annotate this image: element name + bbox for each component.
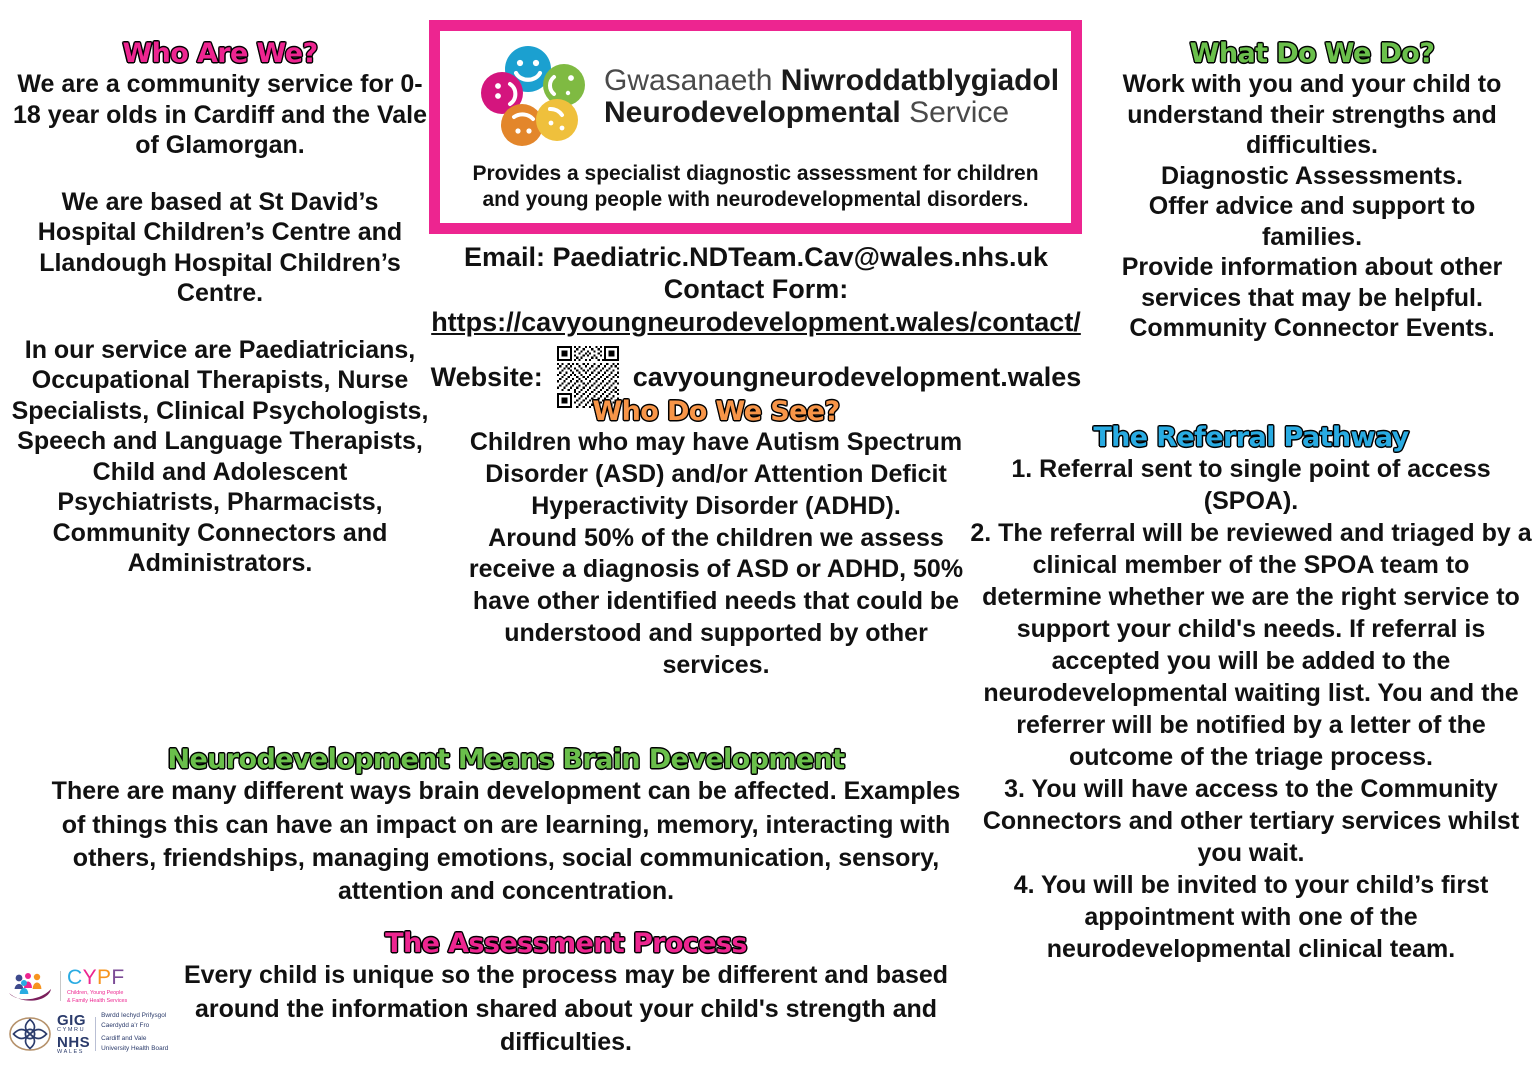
five-smiley-faces-logo-icon	[478, 43, 590, 151]
cypf-subtitle: Children, Young People & Family Health S…	[67, 990, 127, 1004]
referral-pathway-body: 1. Referral sent to single point of acce…	[970, 453, 1532, 965]
what-do-we-do-heading: What Do We Do?	[1096, 40, 1528, 68]
what-do-we-do-item-2: Diagnostic Assessments.	[1096, 161, 1528, 192]
cypf-divider	[60, 971, 61, 1001]
what-do-we-do-body: Work with you and your child to understa…	[1096, 69, 1528, 344]
logo-row: Gwasanaeth Niwroddatblygiadol Neurodevel…	[440, 31, 1071, 151]
website-url[interactable]: cavyoungneurodevelopment.wales	[633, 362, 1082, 393]
logo-neurodevelopmental: Neurodevelopmental	[604, 96, 901, 129]
who-are-we-heading: Who Are We?	[10, 40, 430, 68]
nhs-wales-celtic-knot-logo-icon	[8, 1015, 52, 1053]
referral-step-2: 2. The referral will be reviewed and tri…	[970, 517, 1532, 773]
who-do-we-see-paragraph-1: Children who may have Autism Spectrum Di…	[452, 427, 980, 522]
website-label: Website:	[431, 362, 543, 393]
logo-service: Service	[909, 96, 1009, 129]
logo-line-english: Neurodevelopmental Service	[604, 97, 1059, 129]
neurodevelopment-section: Neurodevelopment Means Brain Development…	[46, 746, 966, 908]
cypf-subtitle-line-1: Children, Young People	[67, 990, 127, 997]
referral-step-3: 3. You will have access to the Community…	[970, 773, 1532, 869]
who-are-we-paragraph-2: We are based at St David’s Hospital Chil…	[10, 187, 430, 309]
contact-block: Email: Paediatric.NDTeam.Cav@wales.nhs.u…	[420, 242, 1092, 408]
cypf-family-hand-logo-icon	[8, 969, 54, 1003]
nhs-welsh-name: Bwrdd Iechyd Prifysgol Caerdydd a’r Fro	[101, 1011, 168, 1031]
neurodevelopment-paragraph-1: There are many different ways brain deve…	[46, 775, 966, 908]
who-do-we-see-body: Children who may have Autism Spectrum Di…	[452, 427, 980, 681]
assessment-process-body: Every child is unique so the process may…	[152, 959, 980, 1059]
who-do-we-see-section: Who Do We See? Children who may have Aut…	[452, 398, 980, 681]
what-do-we-do-item-1: Work with you and your child to understa…	[1096, 69, 1528, 161]
referral-pathway-heading: The Referral Pathway	[970, 424, 1532, 452]
who-do-we-see-heading: Who Do We See?	[452, 398, 980, 426]
email-line: Email: Paediatric.NDTeam.Cav@wales.nhs.u…	[420, 242, 1092, 274]
nhs-gig-text: GIG	[57, 1013, 90, 1028]
nhs-gig-wordmark: GIG CYMRU NHS WALES	[57, 1013, 90, 1055]
contact-form-link[interactable]: https://cavyoungneurodevelopment.wales/c…	[420, 305, 1092, 340]
nhs-english-line-1: Cardiff and Vale	[101, 1034, 168, 1044]
neurodevelopment-body: There are many different ways brain deve…	[46, 775, 966, 908]
who-are-we-paragraph-1: We are a community service for 0-18 year…	[10, 69, 430, 161]
assessment-process-section: The Assessment Process Every child is un…	[152, 930, 980, 1059]
who-are-we-body: We are a community service for 0-18 year…	[10, 69, 430, 579]
referral-step-4: 4. You will be invited to your child’s f…	[970, 869, 1532, 965]
who-do-we-see-paragraph-2: Around 50% of the children we assess rec…	[452, 523, 980, 682]
contact-form-label: Contact Form:	[420, 274, 1092, 306]
what-do-we-do-item-3: Offer advice and support to families.	[1096, 191, 1528, 252]
service-logo-card: Gwasanaeth Niwroddatblygiadol Neurodevel…	[429, 20, 1082, 234]
logo-gwasanaeth: Gwasanaeth	[604, 64, 772, 97]
nhs-health-board-name: Bwrdd Iechyd Prifysgol Caerdydd a’r Fro …	[101, 1011, 168, 1057]
nhs-divider	[95, 1017, 96, 1051]
cypf-letter-y: Y	[83, 966, 97, 989]
cypf-wordmark: CYPF Children, Young People & Family Hea…	[67, 967, 127, 1004]
nhs-nhs-text: NHS	[57, 1035, 90, 1050]
paragraph-spacer	[10, 161, 430, 187]
who-are-we-paragraph-3: In our service are Paediatricians, Occup…	[10, 335, 430, 579]
what-do-we-do-section: What Do We Do? Work with you and your ch…	[1088, 40, 1536, 344]
logo-niwroddatblygiadol: Niwroddatblygiadol	[781, 64, 1059, 97]
neurodevelopment-heading: Neurodevelopment Means Brain Development	[46, 746, 966, 774]
nhs-welsh-line-1: Bwrdd Iechyd Prifysgol	[101, 1011, 168, 1021]
logo-strapline: Provides a specialist diagnostic assessm…	[440, 151, 1071, 212]
nhs-english-line-2: University Health Board	[101, 1044, 168, 1054]
assessment-process-paragraph-1: Every child is unique so the process may…	[152, 959, 980, 1059]
referral-pathway-section: The Referral Pathway 1. Referral sent to…	[966, 424, 1536, 965]
who-are-we-section: Who Are We? We are a community service f…	[0, 40, 440, 579]
cypf-letter-f: F	[111, 966, 124, 989]
logo-line-welsh: Gwasanaeth Niwroddatblygiadol	[604, 65, 1059, 97]
cypf-letter-p: P	[97, 966, 111, 989]
nhs-wales-logo: GIG CYMRU NHS WALES Bwrdd Iechyd Prifysg…	[8, 1011, 188, 1057]
what-do-we-do-item-5: Community Connector Events.	[1096, 313, 1528, 344]
footer-logos: CYPF Children, Young People & Family Hea…	[8, 964, 188, 1057]
nhs-english-name: Cardiff and Vale University Health Board	[101, 1034, 168, 1054]
nhs-welsh-line-2: Caerdydd a’r Fro	[101, 1021, 168, 1031]
what-do-we-do-item-4: Provide information about other services…	[1096, 252, 1528, 313]
cypf-logo: CYPF Children, Young People & Family Hea…	[8, 964, 188, 1008]
cypf-subtitle-line-2: & Family Health Services	[67, 998, 127, 1005]
paragraph-spacer	[10, 309, 430, 335]
logo-wordmark: Gwasanaeth Niwroddatblygiadol Neurodevel…	[604, 65, 1059, 130]
assessment-process-heading: The Assessment Process	[152, 930, 980, 958]
referral-step-1: 1. Referral sent to single point of acce…	[970, 453, 1532, 517]
cypf-letter-c: C	[67, 966, 83, 989]
cypf-title: CYPF	[67, 967, 127, 988]
